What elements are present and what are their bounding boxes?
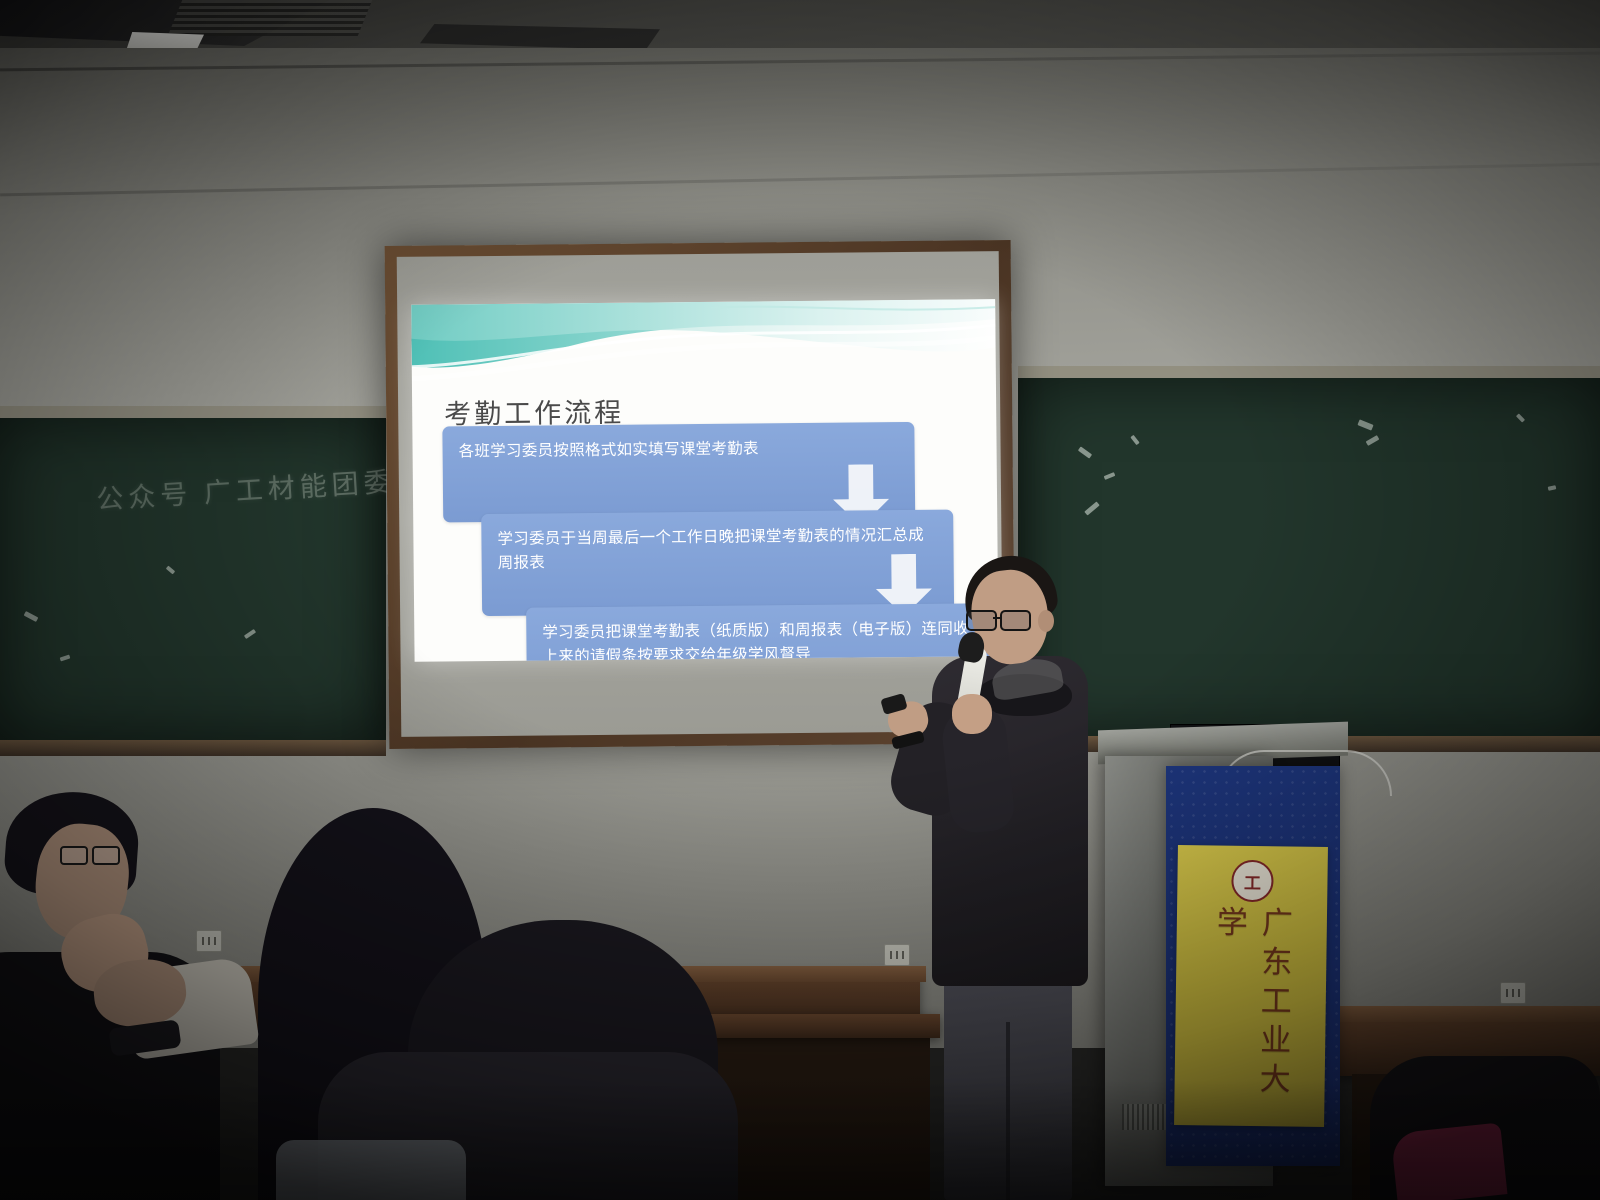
blackboard-left-trim — [0, 406, 386, 418]
speaker-leg-seam — [1006, 1022, 1010, 1200]
audience-member-1-glasses-icon — [60, 846, 118, 861]
podium-banner: 工 广东工业大学 — [1166, 766, 1340, 1166]
speaker-glasses-icon — [966, 610, 1032, 627]
audience-member-2-clothing — [276, 1140, 466, 1200]
ceiling-air-vent — [168, 0, 373, 36]
speaker-right-hand — [952, 694, 992, 734]
lecture-hall-photo: 公众号 广工材能团委 — [0, 0, 1600, 1200]
blackboard-left-ledge — [0, 740, 386, 756]
wall-outlet-right — [1500, 982, 1526, 1004]
slide-wave-decoration — [411, 299, 996, 391]
blackboard-right-trim — [1018, 366, 1600, 378]
banner-paper-sign: 工 广东工业大学 — [1174, 845, 1328, 1127]
university-emblem-icon: 工 — [1231, 860, 1274, 903]
desk-top-right — [1330, 1006, 1600, 1022]
wall-outlet-left — [196, 930, 222, 952]
speaker-ear — [1038, 610, 1054, 632]
university-name-vertical: 广东工业大学 — [1204, 905, 1297, 1126]
audience-member-4-bag — [1391, 1122, 1508, 1200]
speaker-presenter — [880, 552, 1110, 1200]
emblem-glyph: 工 — [1244, 868, 1261, 893]
